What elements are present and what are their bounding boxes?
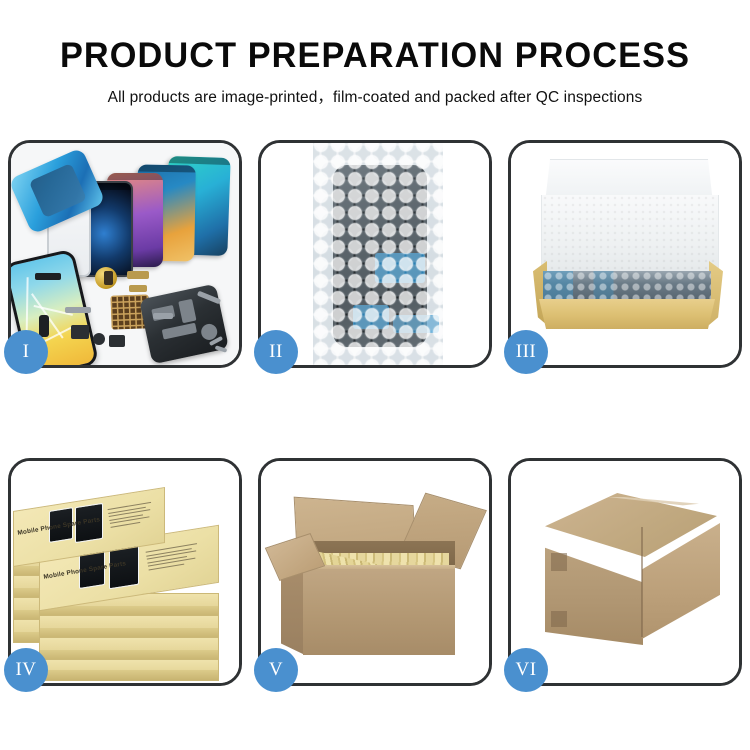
part-button — [93, 333, 105, 345]
step-badge-6: VI — [504, 648, 548, 692]
step-image-2 — [261, 143, 489, 365]
part-module-2 — [109, 335, 125, 347]
page-title: PRODUCT PREPARATION PROCESS — [8, 0, 743, 76]
part-module-3 — [39, 315, 49, 337]
retail-box-stack: Mobile Phone Spare Parts Mobile Phone Sp… — [11, 475, 239, 675]
step-panel-5: V — [258, 458, 492, 686]
part-cable-1 — [65, 307, 91, 313]
carton-seam-2 — [551, 611, 567, 627]
part-flex-2 — [129, 285, 147, 292]
page-header: PRODUCT PREPARATION PROCESS All products… — [0, 0, 750, 107]
retail-box-slab — [39, 659, 219, 681]
step-badge-5: V — [254, 648, 298, 692]
bubble-wrap-layer — [313, 143, 443, 365]
part-strip-1 — [35, 273, 61, 280]
part-module-1 — [71, 325, 89, 339]
step-badge-2: II — [254, 330, 298, 374]
carton-seam-1 — [551, 553, 567, 571]
step-image-5 — [261, 461, 489, 683]
part-flex-1 — [127, 271, 149, 279]
step-panel-6: VI — [508, 458, 742, 686]
bubble-wrap-sheet — [313, 143, 443, 365]
carton-front-face — [303, 569, 455, 655]
product-preparation-page: PRODUCT PREPARATION PROCESS All products… — [0, 0, 750, 750]
step-panel-3: III — [508, 140, 742, 368]
carton-edge-seam — [641, 527, 643, 637]
step-badge-4: IV — [4, 648, 48, 692]
step-panel-2: II — [258, 140, 492, 368]
step-badge-1: I — [4, 330, 48, 374]
step-panel-4: Mobile Phone Spare Parts Mobile Phone Sp… — [8, 458, 242, 686]
retail-box-slab — [39, 637, 219, 661]
step-badge-3: III — [504, 330, 548, 374]
step-panel-1: I — [8, 140, 242, 368]
gold-speaker-component — [95, 267, 117, 289]
box-contents-wrapped-parts — [543, 271, 711, 301]
step-image-6 — [511, 461, 739, 683]
box-foam-lining — [541, 195, 719, 277]
process-step-grid: I II — [8, 140, 742, 686]
part-cable-2 — [153, 313, 173, 319]
page-subtitle: All products are image-printed，film-coat… — [0, 76, 750, 107]
retail-box-slab — [39, 615, 219, 639]
box-front-panel — [539, 299, 715, 329]
step-image-3 — [511, 143, 739, 365]
step-image-4: Mobile Phone Spare Parts Mobile Phone Sp… — [11, 461, 239, 683]
step-image-1 — [11, 143, 239, 365]
